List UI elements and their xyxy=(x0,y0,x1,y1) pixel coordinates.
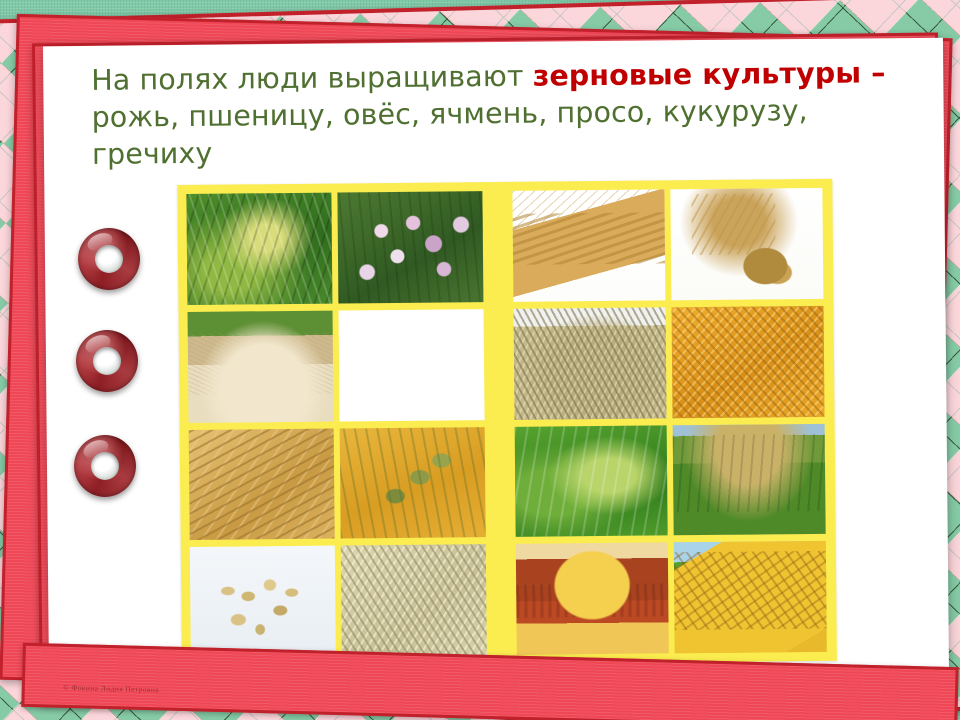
photo-buckwheat-flowers xyxy=(337,191,483,303)
heading-part-two: рожь, пшеницу, овёс, ячмень, просо, куку… xyxy=(91,94,807,171)
photo-rice-grain xyxy=(188,310,334,422)
binder-ring-icon-3 xyxy=(74,435,136,497)
photo-barley-grain xyxy=(190,546,336,658)
page-title: На полях люди выращивают зерновые культу… xyxy=(91,54,902,173)
photo-grid-gutter xyxy=(491,426,510,537)
photo-corn-field xyxy=(673,423,826,535)
photo-grid-gutter xyxy=(490,309,509,420)
photo-rice-plant xyxy=(186,193,332,305)
white-content-card: На полях люди выращивают зерновые культу… xyxy=(43,38,949,683)
heading-accent-term: зерновые культуры xyxy=(533,56,862,92)
photo-grid-gutter xyxy=(488,191,507,302)
photo-grid-frame xyxy=(177,179,837,667)
photo-rye-grain xyxy=(514,307,667,419)
heading-part-one: На полях люди выращивают xyxy=(91,60,533,97)
photo-grid-gutter xyxy=(492,544,511,655)
photo-millet-ear xyxy=(670,188,823,300)
binder-ring-icon-1 xyxy=(78,228,140,290)
photo-grid xyxy=(186,188,827,658)
photo-oat-field xyxy=(340,427,486,539)
photo-millet-plant xyxy=(515,425,668,537)
photo-oat-grain xyxy=(341,544,487,656)
heading-dash: – xyxy=(861,56,886,89)
photo-millet-basket xyxy=(516,543,669,655)
binder-ring-icon-2 xyxy=(76,330,138,392)
photo-wheat-grain xyxy=(671,306,824,418)
photo-barley-ears xyxy=(189,428,335,540)
photo-wheat-ears xyxy=(512,189,665,301)
photo-corn-cob xyxy=(674,541,827,653)
photo-buckwheat-grain xyxy=(339,309,485,421)
slide-canvas: На полях люди выращивают зерновые культу… xyxy=(0,0,960,720)
